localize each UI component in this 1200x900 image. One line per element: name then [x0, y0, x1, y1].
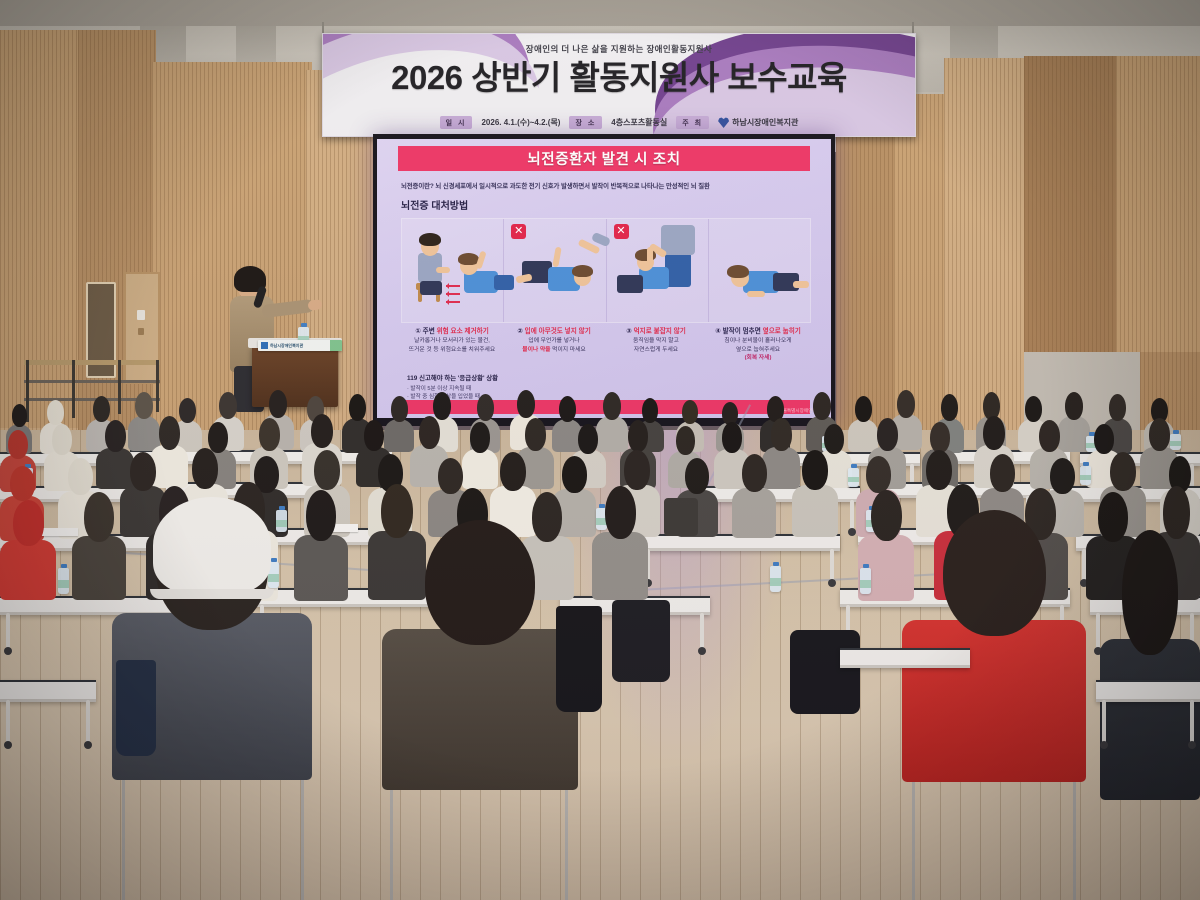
desk-leg [700, 613, 704, 650]
desk-edge [0, 699, 96, 702]
audience-head [1149, 418, 1170, 451]
chair-leg [912, 766, 915, 900]
audience-head [941, 394, 958, 421]
desk-edge [840, 665, 970, 668]
audience-head [1094, 424, 1114, 454]
bottle-cap [773, 562, 779, 566]
desk-leg [6, 700, 10, 744]
audience-head [13, 500, 44, 546]
audience-head [559, 396, 576, 422]
water-bottle [770, 566, 781, 592]
banner-value-place: 4층스포츠활동실 [611, 117, 667, 128]
slide-definition: 뇌전증이란? 뇌 신경세포에서 일시적으로 과도한 전기 신호가 발생하면서 발… [401, 181, 809, 190]
desk-leg [850, 500, 854, 531]
step-desc-1: 날카롭거나 모서리가 있는 물건, 뜨거운 것 등 위험요소를 치워주세요 [401, 337, 503, 363]
audience-head [676, 426, 695, 455]
desc-line: 움직임을 막지 말고 [609, 337, 703, 346]
wall-switch[interactable] [137, 310, 145, 320]
illustration-panel-2: ✕ [504, 219, 606, 322]
bottle-label [860, 580, 871, 588]
step-desc-3: 움직임을 막지 말고 자연스럽게 두세요 [605, 337, 707, 363]
audience-clothing [0, 540, 56, 600]
wall-panel [1116, 56, 1200, 356]
slide-header: 뇌전증환자 발견 시 조치 [398, 146, 810, 171]
banner-label-date: 일 시 [440, 116, 473, 129]
audience-clothing [382, 629, 578, 790]
step-label-2: ② 입에 아무것도 넣지 않기 [503, 325, 605, 335]
projection-screen: 뇌전증환자 발견 시 조치 뇌전증이란? 뇌 신경세포에서 일시적으로 과도한 … [373, 134, 835, 426]
stage-railing [24, 360, 160, 365]
bag-on-desk [664, 498, 698, 536]
step-label-4: ④ 발작이 멈추면 옆으로 눕히기 [707, 325, 809, 335]
audience-clothing [592, 532, 648, 600]
banner-subtitle: 장애인의 더 나은 삶을 지원하는 장애인활동지원사 [323, 43, 915, 55]
audience-member [592, 486, 648, 596]
audience-head [159, 416, 180, 450]
audience-head [802, 450, 828, 490]
audience-head [500, 452, 526, 491]
coat-on-chair [556, 606, 602, 712]
desc-line: 입에 무언가를 넣거나 [507, 337, 601, 346]
banner-footer: 일 시 2026. 4.1.(수)~4.2.(목) 장 소 4층스포츠활동실 주… [323, 116, 915, 129]
desc-line: 뜨거운 것 등 위험요소를 치워주세요 [405, 346, 499, 355]
audience-head [877, 418, 898, 451]
audience-head [68, 458, 93, 495]
audience-member [382, 520, 578, 780]
audience-member [732, 454, 776, 534]
podium-sign-text: 하남시장애인복지관 [270, 343, 303, 349]
step-label-plain: 주변 [423, 328, 437, 335]
banner-label-host: 주 최 [676, 116, 709, 129]
railing-post [72, 360, 75, 418]
presentation-room-photo: 장애인의 더 나은 삶을 지원하는 장애인활동지원사 2026 상반기 활동지원… [0, 0, 1200, 900]
desk-edge [1096, 699, 1200, 702]
audience-head [682, 400, 698, 424]
audience-head [311, 414, 333, 448]
bottle-cap [61, 564, 67, 568]
patient-arm [475, 251, 486, 270]
water-bottle [860, 568, 871, 594]
audience-head [419, 416, 440, 449]
speaker-hand [307, 299, 323, 311]
audience-head [1065, 392, 1083, 420]
audience-head [517, 390, 535, 418]
banner-host-group: 하남시장애인복지관 [718, 117, 798, 128]
wall-panel [0, 30, 80, 428]
wall-panel [944, 58, 1030, 430]
audience-clothing [1100, 639, 1200, 800]
stage-railing [24, 380, 160, 383]
step-number: ② [517, 328, 523, 335]
audience-head [477, 394, 494, 421]
audience-head [93, 396, 110, 422]
audience-head [930, 422, 950, 453]
audience-head [871, 490, 902, 541]
audience-head [685, 458, 709, 494]
audience-head [1110, 452, 1136, 491]
banner-title: 2026 상반기 활동지원사 보수교육 [323, 56, 915, 100]
desk-leg [1102, 700, 1106, 744]
audience-head [943, 510, 1046, 636]
audience-head [990, 454, 1015, 492]
slide-header-text: 뇌전증환자 발견 시 조치 [527, 148, 680, 169]
audience-head [1025, 396, 1042, 422]
audience-head [105, 420, 126, 452]
audience-head [470, 422, 490, 453]
helper-hair [419, 233, 441, 246]
audience-head [52, 424, 72, 455]
desc-note: (회복 자세) [711, 354, 805, 363]
audience-head [562, 456, 587, 493]
water-bottle [58, 568, 69, 594]
audience-member [902, 510, 1086, 772]
audience-head [192, 448, 218, 489]
audience-head [605, 486, 636, 539]
desk-leg [1190, 700, 1194, 744]
patient-leg [793, 281, 809, 288]
step-number: ④ [715, 328, 721, 335]
audience-member [792, 450, 838, 534]
patient-hair [572, 265, 593, 277]
step-label-accent: 억지로 붙잡지 않기 [634, 328, 686, 335]
illustration-panel-4 [709, 219, 810, 322]
audience-head [813, 392, 831, 420]
audience-head [47, 400, 64, 425]
desk [1096, 680, 1200, 702]
audience-head [771, 418, 792, 451]
wall-panel [1024, 56, 1122, 356]
audience-head [349, 394, 366, 421]
bottle-label [58, 580, 69, 588]
helper-pants [420, 281, 442, 295]
audience-head [135, 392, 153, 419]
step-label-accent: 입에 아무것도 넣지 않기 [525, 328, 591, 335]
bottle-cap [301, 323, 307, 327]
step-desc-4: 침이나 분비물이 흘러나오게 옆으로 눕혀주세요 (회복 자세) [707, 337, 809, 363]
illustration-panel-3: ✕ [607, 219, 709, 322]
audience-head [12, 404, 27, 427]
step-label-3: ③ 억지로 붙잡지 않기 [605, 325, 707, 335]
audience-head [983, 416, 1005, 450]
desc-line: 물이나 약을 먹이지 마세요 [507, 346, 601, 355]
audience-head [603, 392, 621, 420]
heart-logo-icon [718, 117, 729, 128]
audience-head [425, 520, 535, 645]
forbidden-x-icon: ✕ [511, 224, 526, 239]
desc-accent: 물이나 약을 [522, 347, 550, 353]
desk [0, 680, 96, 702]
handbag [790, 630, 860, 714]
audience-head [897, 390, 915, 418]
audience-head [84, 492, 114, 542]
podium-sign: 하남시장애인복지관 [258, 340, 342, 351]
audience-member [0, 500, 56, 596]
audience-head [628, 420, 648, 452]
banner-value-host: 하남시장애인복지관 [732, 117, 798, 128]
patient-arm [553, 247, 562, 268]
desk-edge [640, 548, 840, 551]
step-label-1: ① 주변 위험 요소 제거하기 [401, 325, 503, 335]
wall-panel [894, 94, 950, 430]
railing-post [118, 360, 121, 414]
audience-head [525, 418, 546, 451]
emergency-title: 119 신고해야 하는 '응급상황' 상황 [407, 373, 803, 382]
illustration-panel-1 [402, 219, 504, 322]
bottle-cap [863, 564, 869, 568]
step-label-accent: 위험 요소 제거하기 [437, 328, 489, 335]
floor-plank [360, 430, 361, 900]
audience-head [10, 466, 35, 501]
desc-line: 옆으로 눕혀주세요 [711, 346, 805, 355]
chair-leg [122, 760, 125, 900]
podium-sign-accent [330, 340, 342, 351]
slide-section-title: 뇌전증 대처방법 [401, 197, 468, 212]
step-number: ① [415, 328, 421, 335]
desk-leg [6, 613, 10, 650]
ceiling-beam [0, 0, 1200, 26]
desk-leg [830, 549, 834, 582]
cap-brim [150, 589, 274, 599]
audience-head [269, 390, 287, 418]
audience-head [8, 430, 28, 459]
audience-head [314, 450, 340, 490]
audience-clothing [732, 488, 776, 538]
direction-arrow [446, 301, 460, 303]
helper-arm [436, 267, 450, 273]
audience-head [391, 396, 408, 422]
banner-label-place: 장 소 [569, 116, 602, 129]
step-label-accent: 옆으로 눕히기 [763, 328, 801, 335]
audience-head [1122, 530, 1178, 655]
step-label-plain: 발작이 멈추면 [723, 328, 763, 335]
coat-on-chair [116, 660, 156, 756]
audience-head [1039, 420, 1060, 452]
patient-hair [727, 265, 749, 278]
step-desc-2: 입에 무언가를 넣거나 물이나 약을 먹이지 마세요 [503, 337, 605, 363]
audience-head [1109, 394, 1126, 421]
direction-arrow [446, 293, 460, 295]
audience-head [219, 392, 237, 419]
audience-head [866, 456, 891, 493]
audience-head [364, 420, 384, 451]
audience-head [259, 418, 280, 451]
backpack [612, 600, 670, 682]
desk-leg [86, 700, 90, 744]
audience-head [722, 422, 742, 453]
podium-sign-logo-icon [261, 342, 268, 349]
step-number: ③ [626, 328, 632, 335]
chair-leg [1073, 766, 1076, 900]
desc-line-rest: 먹이지 마세요 [551, 347, 586, 353]
audience-clothing [792, 485, 838, 537]
baseball-cap [153, 497, 271, 594]
desc-line: 침이나 분비물이 흘러나오게 [711, 337, 805, 346]
audience-head [742, 454, 767, 492]
audience-clothing [902, 620, 1086, 782]
slide-content: 뇌전증환자 발견 시 조치 뇌전증이란? 뇌 신경세포에서 일시적으로 과도한 … [377, 139, 831, 418]
patient-arm [747, 291, 765, 297]
desc-line: 자연스럽게 두세요 [609, 346, 703, 355]
audience-head [578, 424, 598, 454]
illustration-panels: ✕ ✕ [401, 218, 811, 323]
forbidden-x-icon: ✕ [614, 224, 629, 239]
step-descriptions: 날카롭거나 모서리가 있는 물건, 뜨거운 것 등 위험요소를 치워주세요 입에… [401, 337, 809, 363]
patient-pants [617, 275, 643, 293]
door-lock-plate [138, 328, 144, 335]
event-banner: 장애인의 더 나은 삶을 지원하는 장애인활동지원사 2026 상반기 활동지원… [322, 33, 916, 137]
banner-value-date: 2026. 4.1.(수)~4.2.(목) [481, 117, 560, 128]
desc-line: 날카롭거나 모서리가 있는 물건, [405, 337, 499, 346]
chair-leg [301, 760, 304, 900]
patient-arm [647, 247, 653, 267]
desk [840, 648, 970, 668]
step-labels: ① 주변 위험 요소 제거하기 ② 입에 아무것도 넣지 않기 ③ 억지로 붙잡… [401, 325, 809, 335]
bottle-label [770, 578, 781, 586]
direction-arrow [446, 285, 460, 287]
audience-member [1100, 530, 1200, 790]
audience-head [624, 450, 650, 490]
